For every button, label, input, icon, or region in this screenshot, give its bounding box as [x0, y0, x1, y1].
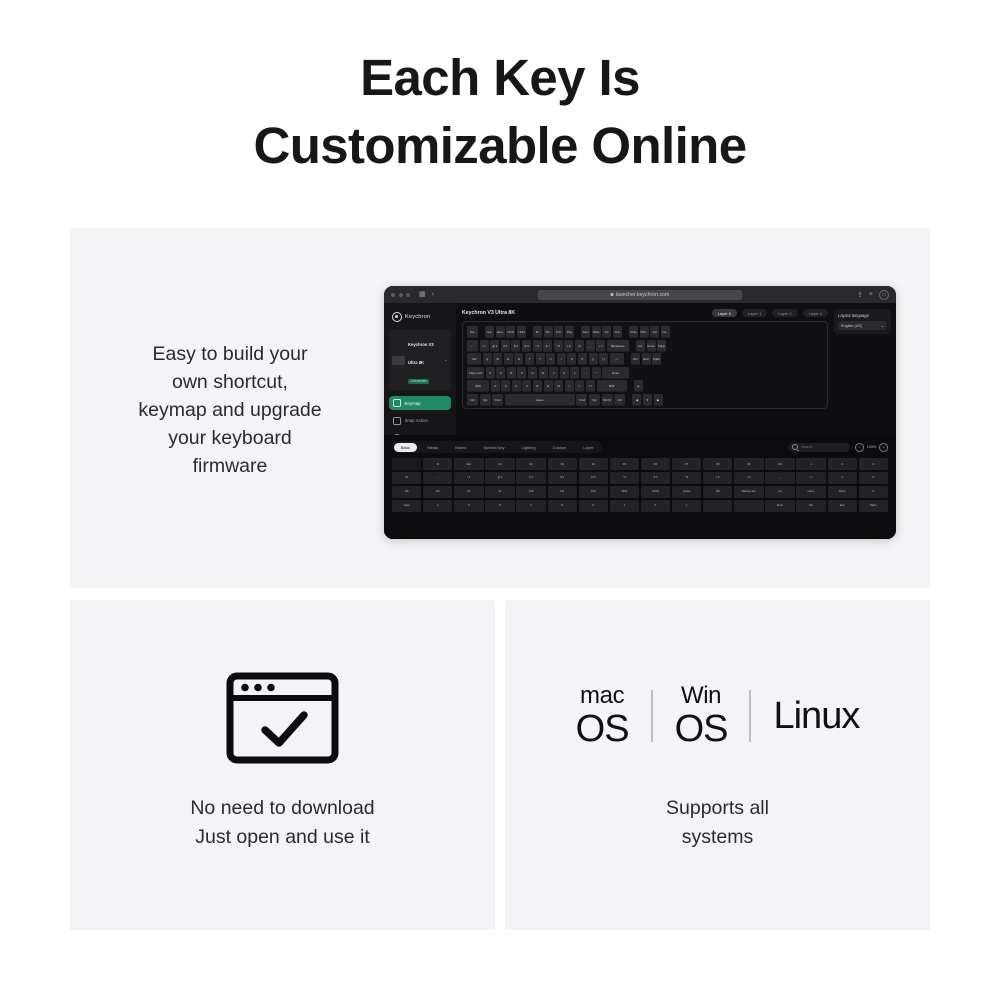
feature-card-os-support	[505, 600, 930, 930]
keyboard-key[interactable]: Ins...	[661, 326, 670, 338]
palette-key[interactable]: SL	[485, 486, 514, 498]
minimize-icon[interactable]	[399, 293, 403, 297]
copy-line-4: your keyboard	[95, 424, 365, 452]
keyboard-row: TabQWERTYUIOP{ [} ]| \DelEndPgDn	[467, 353, 823, 365]
sidebar-item-snap-action[interactable]: Snap Action	[389, 414, 451, 428]
keyboard-key[interactable]: LPad	[517, 326, 526, 338]
chevron-down-icon[interactable]: ⌄	[444, 357, 448, 363]
tab-layer-0[interactable]: Layer 0	[712, 309, 737, 317]
keyboard-key[interactable]: Ctrl	[614, 394, 625, 406]
keyboard-gap	[624, 326, 628, 338]
palette-key[interactable]: PgDn	[859, 500, 888, 512]
os-logo-row: mac OS Win OS Linux	[505, 676, 930, 756]
palette-key[interactable]: & 7	[641, 472, 670, 484]
tab-layer-3[interactable]: Layer 3	[803, 309, 828, 317]
layout-language-select[interactable]: English (US) ⌄	[838, 321, 887, 330]
keyboard-key[interactable]: ) 0	[575, 340, 584, 352]
palette-key[interactable]: F1	[454, 486, 483, 498]
traffic-lights	[391, 293, 410, 297]
keyboard-key[interactable]: Br+	[544, 326, 553, 338]
keyboard-key[interactable]: Caps Lock	[467, 367, 484, 379]
keyboard-key[interactable]: SSh...	[640, 326, 649, 338]
palette-key[interactable]: Esc	[454, 458, 483, 470]
tab-basic[interactable]: Basic	[394, 443, 418, 452]
palette-key[interactable]: Tab	[703, 486, 732, 498]
keyboard-key[interactable]: MCtrl	[506, 326, 515, 338]
share-icon[interactable]: ⇪	[857, 291, 863, 299]
keycode-toolbar: Basic Media Macro Special Key Lighting C…	[392, 441, 888, 453]
keyboard-key[interactable]: Backspace	[607, 340, 629, 352]
layout-language-value: English (US)	[841, 324, 862, 328]
zoom-level: 100%	[867, 445, 876, 449]
palette-key[interactable]: G	[548, 500, 577, 512]
keyboard-key[interactable]: V	[522, 380, 531, 392]
headline-line-1: Each Key Is	[0, 44, 1000, 112]
keyboard-gap	[625, 353, 629, 365]
palette-key[interactable]: ^ 6	[610, 472, 639, 484]
keyboard-key[interactable]: " '	[592, 367, 601, 379]
tab-layer-2[interactable]: Layer 2	[772, 309, 797, 317]
copy-line-1: Easy to build your	[95, 340, 365, 368]
palette-key[interactable]: J	[610, 500, 639, 512]
keyboard-key[interactable]: O	[567, 353, 576, 365]
sidebar-item-label: Keymap	[405, 401, 421, 406]
keyboard-key[interactable]: @ 2	[490, 340, 499, 352]
palette-key[interactable]: Ins	[765, 486, 794, 498]
keyboard-key[interactable]: + =	[596, 340, 605, 352]
promo-page: Each Key Is Customizable Online Easy to …	[0, 0, 1000, 1000]
keyboard-key[interactable]: < ,	[565, 380, 574, 392]
keyboard-key[interactable]: ▼	[643, 394, 652, 406]
keyboard-key[interactable]: W	[493, 353, 502, 365]
keyboard-key[interactable]: Next	[581, 326, 590, 338]
keyboard-key[interactable]: Vol-	[602, 326, 611, 338]
layer-tabs: Layer 0 Layer 1 Layer 2 Layer 3	[712, 309, 828, 317]
winos-prefix: Win	[681, 684, 721, 708]
palette-key[interactable]: PgUp	[828, 486, 857, 498]
snap-action-icon	[393, 417, 401, 425]
keyboard-key[interactable]: A	[486, 367, 495, 379]
palette-key[interactable]: + =	[796, 472, 825, 484]
brand: Keychron	[392, 312, 451, 322]
zoom-controls: − 100% +	[855, 443, 888, 452]
keyboard-key[interactable]: F	[517, 367, 526, 379]
palette-key[interactable]: % 5	[579, 472, 608, 484]
keyboard-key[interactable]: H	[539, 367, 548, 379]
palette-key[interactable]: Scroll	[641, 486, 670, 498]
keyboard-key[interactable]: Enter	[602, 367, 629, 379]
palette-key[interactable]: L	[672, 500, 701, 512]
keyboard-key[interactable]: End	[642, 353, 651, 365]
palette-row: TabDelF1SLF10F11F12PrintScrollpauseTabBa…	[392, 486, 888, 498]
palette-key[interactable]: @ 2	[485, 472, 514, 484]
palette-key[interactable]	[392, 458, 421, 470]
keyboard-key[interactable]: ~ `	[467, 340, 478, 352]
launcher-app: Keychron Keychron V3 Ultra 8K Connected …	[384, 303, 896, 539]
palette-key[interactable]: Caps	[392, 500, 421, 512]
keyboard-key[interactable]: Mute	[592, 326, 601, 338]
sidebar-item-label: Snap Action	[405, 418, 428, 423]
keyboard-key[interactable]: $ 4	[511, 340, 520, 352]
keyboard-key[interactable]: * 8	[554, 340, 563, 352]
palette-key[interactable]: 4	[828, 472, 857, 484]
palette-key[interactable]: Backsp ace	[734, 486, 763, 498]
keyboard-key[interactable]: ( 9	[564, 340, 573, 352]
palette-key[interactable]: F9	[734, 458, 763, 470]
palette-key[interactable]: F6	[641, 458, 670, 470]
keyboard-key[interactable]: L	[570, 367, 579, 379]
close-icon[interactable]	[391, 293, 395, 297]
caption-line-2: Just open and use it	[70, 823, 495, 852]
keyboard-key[interactable]: B	[533, 380, 542, 392]
keyboard-key[interactable]: ^ 6	[533, 340, 542, 352]
keyboard-row: CtrlOptCmdspaceCmdOptMO(1)Ctrl◀▼▶	[467, 394, 823, 406]
palette-key[interactable]: D	[485, 500, 514, 512]
palette-key[interactable]: K	[641, 500, 670, 512]
browser-chrome: ▦ ‹ launcher.keychron.com ⇪ + □	[384, 286, 896, 303]
page-title: Each Key Is Customizable Online	[0, 44, 1000, 180]
maximize-icon[interactable]	[406, 293, 410, 297]
keyboard-key[interactable]: R	[514, 353, 523, 365]
device-name-line-1: Keychron V3	[408, 342, 434, 347]
keyboard-key[interactable]: Shift	[597, 380, 627, 392]
keyboard-key[interactable]: Del	[650, 326, 659, 338]
layout-language-box: Layout language English (US) ⌄	[834, 309, 891, 334]
keyboard-key[interactable]: Cmd	[576, 394, 587, 406]
keycode-tabs: Basic Media Macro Special Key Lighting C…	[392, 441, 602, 453]
duplicate-icon[interactable]: □	[879, 290, 889, 300]
keymap-icon	[393, 399, 401, 407]
keyboard-key[interactable]: E	[504, 353, 513, 365]
device-name-line-2: Ultra 8K	[408, 360, 424, 365]
keyboard-canvas[interactable]: EscEscEsc+MCtrlLPadBr-Br+PrevPlayNextMut…	[462, 321, 828, 409]
keyboard-key[interactable]: C	[512, 380, 521, 392]
keyboard-key[interactable]: D	[507, 367, 516, 379]
palette-key[interactable]: S	[454, 500, 483, 512]
palette-key[interactable]: H	[579, 500, 608, 512]
palette-key[interactable]: ~ `	[423, 472, 452, 484]
linux-logo: Linux	[773, 697, 859, 735]
search-input[interactable]: Search	[788, 443, 850, 452]
keyboard-key[interactable]: J	[549, 367, 558, 379]
keyboard-row: ~ `! 1@ 2# 3$ 4% 5^ 6& 7* 8( 9) 0_ -+ =B…	[467, 340, 823, 352]
keyboard-gap	[628, 380, 632, 392]
keyboard-key[interactable]: ! 1	[480, 340, 489, 352]
keyboard-key[interactable]: & 7	[543, 340, 552, 352]
copy-line-2: own shortcut,	[95, 368, 365, 396]
palette-key[interactable]: F10	[516, 486, 545, 498]
keyboard-key[interactable]: Shift	[467, 380, 489, 392]
browser-window-check-icon	[226, 672, 339, 764]
keycode-tools: Basic Media Macro Special Key Lighting C…	[384, 435, 896, 539]
keyboard-key[interactable]: : ;	[581, 367, 590, 379]
status-badge: Connected	[408, 379, 429, 384]
palette-key[interactable]: Del	[796, 500, 825, 512]
keyboard-key[interactable]: Vol+	[613, 326, 622, 338]
copy-line-5: firmware	[95, 452, 365, 480]
keyboard-key[interactable]: Cmd	[492, 394, 503, 406]
palette-key[interactable]: F12	[579, 486, 608, 498]
sidebar-icon[interactable]: ▦	[419, 291, 426, 298]
macos-prefix: mac	[580, 684, 624, 708]
palette-key[interactable]: 5	[859, 472, 888, 484]
palette-key[interactable]: F11	[548, 486, 577, 498]
keyboard-key[interactable]: PgUp	[657, 340, 666, 352]
zoom-out-button[interactable]: −	[855, 443, 864, 452]
logo-divider	[749, 690, 751, 742]
palette-key[interactable]: pause	[672, 486, 701, 498]
keyboard-row: ShiftZXCVBNM< ,> .? /Shift▲	[467, 380, 823, 392]
keyboard-key[interactable]: I	[557, 353, 566, 365]
keyboard-key[interactable]: ▶	[654, 394, 663, 406]
keyboard-key[interactable]: Z	[491, 380, 500, 392]
tab-media[interactable]: Media	[420, 443, 445, 452]
palette-row: ⌘EscF1F2F3F4F5F6F7F8F9F10123	[392, 458, 888, 470]
tab-lighting[interactable]: Lighting	[515, 443, 543, 452]
palette-key[interactable]: F3	[548, 458, 577, 470]
caption-line-1: No need to download	[70, 794, 495, 823]
keyboard-key[interactable]: # 3	[501, 340, 510, 352]
palette-key[interactable]: Enter	[765, 500, 794, 512]
url-text: launcher.keychron.com	[616, 292, 670, 298]
palette-key[interactable]: Home	[796, 486, 825, 498]
caption-line-2: systems	[505, 823, 930, 852]
brand-name: Keychron	[405, 314, 430, 320]
palette-key[interactable]: 1	[796, 458, 825, 470]
headline-line-2: Customizable Online	[0, 112, 1000, 180]
keyboard-key[interactable]: Opt	[480, 394, 491, 406]
launcher-screenshot: ▦ ‹ launcher.keychron.com ⇪ + □ Keychron	[384, 286, 896, 539]
palette-key[interactable]: ;	[703, 500, 732, 512]
logo-divider	[651, 690, 653, 742]
tab-custom[interactable]: Custom	[546, 443, 574, 452]
palette-key[interactable]: $ 4	[548, 472, 577, 484]
keyboard-key[interactable]: Ins	[636, 340, 645, 352]
palette-row: ⌘~ `! 1@ 2# 3$ 4% 5^ 6& 7* 8( 9) 0_ -+ =…	[392, 472, 888, 484]
lock-icon	[611, 293, 614, 296]
os-support-caption: Supports all systems	[505, 794, 930, 852]
palette-key[interactable]: Print	[610, 486, 639, 498]
palette-key[interactable]: F10	[765, 458, 794, 470]
search-icon	[792, 444, 798, 450]
keyboard-key[interactable]: | \	[610, 353, 624, 365]
keyboard-key[interactable]: P	[578, 353, 587, 365]
winos-suffix: OS	[675, 710, 728, 748]
palette-key[interactable]: ( 9	[703, 472, 732, 484]
keyboard-gap	[480, 326, 484, 338]
keyboard-key[interactable]: ? /	[586, 380, 595, 392]
keyboard-title: Keychron V3 Ultra 8K	[462, 310, 515, 316]
keyboard-key[interactable]: Prev	[554, 326, 563, 338]
palette-key[interactable]: _ -	[765, 472, 794, 484]
macos-suffix: OS	[576, 710, 629, 748]
keyboard-row: EscEscEsc+MCtrlLPadBr-Br+PrevPlayNextMut…	[467, 326, 823, 338]
palette-key[interactable]: Del	[423, 486, 452, 498]
macos-logo: mac OS	[576, 684, 629, 748]
keyboard-key[interactable]: % 5	[522, 340, 531, 352]
keyboard-key[interactable]: MO(1)	[602, 394, 613, 406]
palette-key[interactable]: # 3	[516, 472, 545, 484]
search-placeholder: Search	[801, 445, 812, 449]
keyboard-key[interactable]: U	[546, 353, 555, 365]
keyboard-key[interactable]: Play	[565, 326, 574, 338]
palette-key[interactable]: ⌘	[423, 458, 452, 470]
chrome-right-controls: ⇪ + □	[857, 290, 889, 300]
keyboard-key[interactable]: ◀	[632, 394, 641, 406]
palette-row: CapsASDFGHJKL;'EnterDelEndPgDn	[392, 500, 888, 512]
palette-key[interactable]: End	[828, 500, 857, 512]
sidebar-item-keymap[interactable]: Keymap	[389, 396, 451, 410]
keyboard-key[interactable]: S	[496, 367, 505, 379]
keyboard-key[interactable]: } ]	[599, 353, 608, 365]
layout-language-label: Layout language	[838, 313, 887, 318]
main-header: Keychron V3 Ultra 8K Layer 0 Layer 1 Lay…	[462, 309, 828, 317]
linux-label: Linux	[773, 697, 859, 735]
zoom-in-button[interactable]: +	[879, 443, 888, 452]
keyboard-key[interactable]: Q	[483, 353, 492, 365]
keyboard-key[interactable]: Esc+	[496, 326, 505, 338]
palette-key[interactable]: F	[516, 500, 545, 512]
palette-key[interactable]: F7	[672, 458, 701, 470]
tab-layer[interactable]: Layer	[576, 443, 600, 452]
feature-card-no-download	[70, 600, 495, 930]
keyboard-key[interactable]: Opt	[589, 394, 600, 406]
keyboard-key[interactable]: T	[525, 353, 534, 365]
palette-key[interactable]: A	[423, 500, 452, 512]
keyboard-key[interactable]: space	[505, 394, 575, 406]
device-meta: Keychron V3 Ultra 8K Connected	[408, 333, 441, 387]
tab-layer-1[interactable]: Layer 1	[742, 309, 767, 317]
keyboard-key[interactable]: N	[544, 380, 553, 392]
plus-icon[interactable]: +	[869, 291, 873, 298]
palette-key[interactable]: 2	[828, 458, 857, 470]
address-bar[interactable]: launcher.keychron.com	[538, 290, 743, 300]
no-download-caption: No need to download Just open and use it	[70, 794, 495, 852]
palette-key[interactable]: ⌘	[392, 472, 421, 484]
palette-key[interactable]: 3	[859, 458, 888, 470]
palette-key[interactable]: Tab	[392, 486, 421, 498]
keyboard-row: Caps LockASDFGHJKL: ;" 'Enter	[467, 367, 823, 379]
keyboard-key[interactable]: Home	[647, 340, 656, 352]
keyboard-key[interactable]: Esc	[485, 326, 494, 338]
keyboard-key[interactable]: Ctrl	[467, 394, 478, 406]
palette-key[interactable]: * 8	[672, 472, 701, 484]
palette-key[interactable]: F4	[579, 458, 608, 470]
keyboard-key[interactable]: M	[554, 380, 563, 392]
copy-line-3: keymap and upgrade	[95, 396, 365, 424]
keyboard-key[interactable]: Del	[631, 353, 640, 365]
keyboard-gap	[630, 340, 634, 352]
keyboard-key[interactable]: Esc	[467, 326, 478, 338]
keyboard-key[interactable]: Y	[536, 353, 545, 365]
palette-key[interactable]: F8	[703, 458, 732, 470]
tab-special-key[interactable]: Special Key	[476, 443, 511, 452]
chevron-down-icon: ⌄	[881, 323, 884, 328]
palette-key[interactable]: F1	[485, 458, 514, 470]
keycode-palette[interactable]: ⌘EscF1F2F3F4F5F6F7F8F9F10123⌘~ `! 1@ 2# …	[392, 458, 888, 511]
keyboard-key[interactable]: { [	[589, 353, 598, 365]
keyboard-key[interactable]: Mute	[629, 326, 638, 338]
launcher-description: Easy to build your own shortcut, keymap …	[95, 340, 365, 480]
keychron-logo-icon	[392, 312, 402, 322]
keyboard-key[interactable]: Br-	[533, 326, 542, 338]
keyboard-key[interactable]: X	[501, 380, 510, 392]
keyboard-key[interactable]: > .	[575, 380, 584, 392]
palette-key[interactable]: 6	[859, 486, 888, 498]
palette-key[interactable]: '	[734, 500, 763, 512]
caption-line-1: Supports all	[505, 794, 930, 823]
winos-logo: Win OS	[675, 684, 728, 748]
palette-key[interactable]: F2	[516, 458, 545, 470]
toolbar-right: Search − 100% +	[788, 443, 888, 452]
tab-macro[interactable]: Macro	[448, 443, 473, 452]
palette-key[interactable]: ! 1	[454, 472, 483, 484]
keyboard-gap	[528, 326, 532, 338]
chevron-left-icon[interactable]: ‹	[432, 291, 434, 298]
keyboard-key[interactable]: PgDn	[652, 353, 661, 365]
keyboard-key[interactable]: Tab	[467, 353, 481, 365]
keyboard-gap	[627, 394, 631, 406]
keyboard-key[interactable]: _ -	[586, 340, 595, 352]
keyboard-key[interactable]: G	[528, 367, 537, 379]
palette-key[interactable]: F5	[610, 458, 639, 470]
palette-key[interactable]: ) 0	[734, 472, 763, 484]
chrome-left-controls: ▦ ‹	[419, 291, 434, 298]
device-thumbnail-icon	[392, 356, 405, 365]
keyboard-key[interactable]: ▲	[634, 380, 643, 392]
device-selector[interactable]: Keychron V3 Ultra 8K Connected ⌄	[389, 330, 451, 390]
keyboard-gap	[576, 326, 580, 338]
keyboard-key[interactable]: K	[560, 367, 569, 379]
